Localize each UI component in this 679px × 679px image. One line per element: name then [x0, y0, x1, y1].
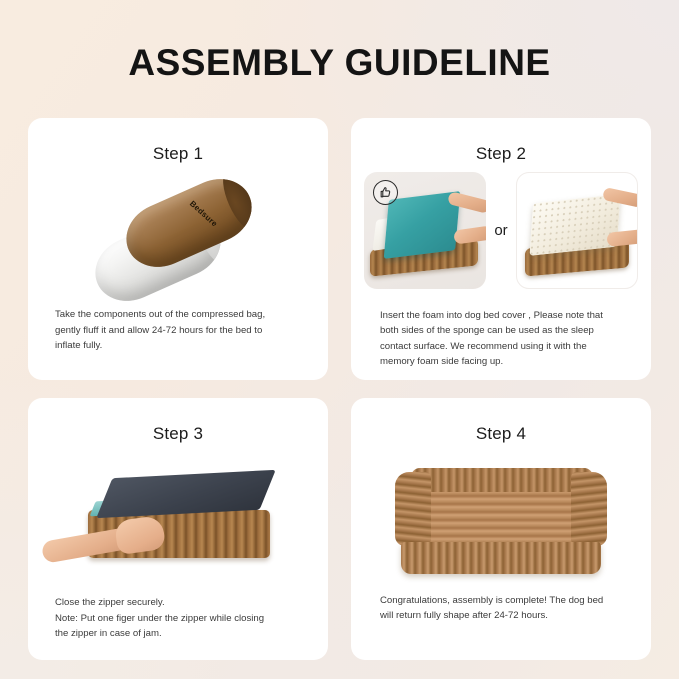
step-card-2: Step 2 — [351, 118, 651, 380]
step-4-heading: Step 4 — [351, 424, 651, 444]
step-3-image — [28, 460, 328, 588]
bed-front-panel — [401, 542, 601, 574]
steps-grid: Step 1 Bedsure Bedsure Take the componen… — [28, 118, 651, 660]
step-4-caption: Congratulations, assembly is complete! T… — [380, 593, 633, 624]
step-1-caption: Take the components out of the compresse… — [55, 307, 310, 354]
step-2-heading: Step 2 — [351, 144, 651, 164]
step-1-heading: Step 1 — [28, 144, 328, 164]
foam-options-row: or — [364, 170, 638, 290]
thumbs-up-icon — [373, 180, 398, 205]
step-3-caption: Close the zipper securely. Note: Put one… — [55, 595, 310, 642]
bolster-right — [571, 472, 607, 546]
step-card-4: Step 4 Congratulations, assembly is comp… — [351, 398, 651, 660]
finished-dog-bed-illustration — [351, 458, 651, 588]
hand-lower-left-panel — [453, 225, 486, 244]
bolster-back — [411, 468, 593, 494]
step-4-image — [351, 458, 651, 588]
step-2-image: or — [351, 170, 651, 290]
step-3-heading: Step 3 — [28, 424, 328, 444]
compressed-bags-illustration: Bedsure Bedsure — [28, 176, 328, 306]
memory-foam-side — [529, 194, 620, 256]
step-2-caption: Insert the foam into dog bed cover , Ple… — [380, 308, 637, 370]
page-title: ASSEMBLY GUIDELINE — [0, 42, 679, 84]
zipper-closing-illustration — [28, 460, 328, 588]
foam-option-memory-panel — [516, 172, 638, 289]
step-card-1: Step 1 Bedsure Bedsure Take the componen… — [28, 118, 328, 380]
or-divider-label: or — [494, 222, 507, 239]
step-card-3: Step 3 Close the zipper securely. Note: … — [28, 398, 328, 660]
brown-bag-brand-label: Bedsure — [188, 199, 219, 229]
foam-option-teal-panel — [364, 172, 486, 289]
assembly-guideline-page: ASSEMBLY GUIDELINE Step 1 Bedsure Bedsur… — [0, 0, 679, 679]
bolster-left — [395, 472, 431, 546]
step-1-image: Bedsure Bedsure — [28, 176, 328, 306]
